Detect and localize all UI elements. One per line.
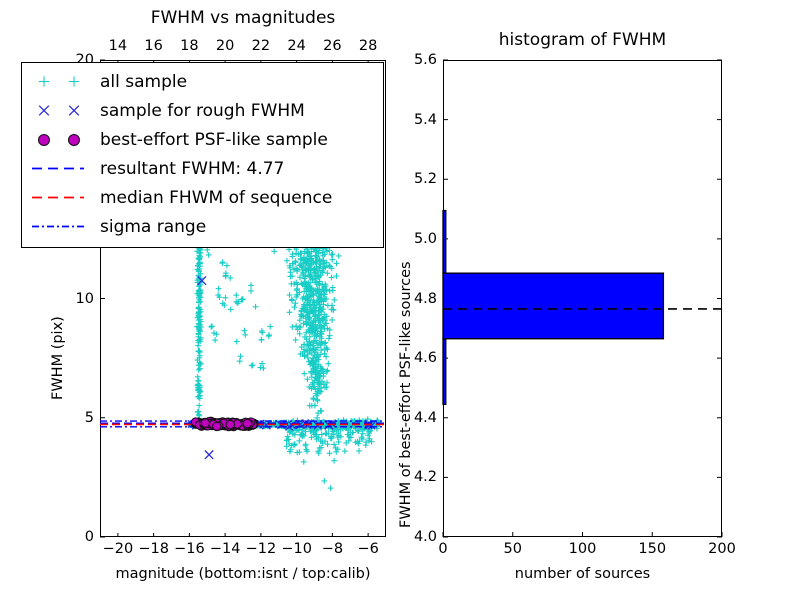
right-ytick: 5.6 xyxy=(399,52,437,68)
right-xtick: 50 xyxy=(504,541,522,557)
right-ytick: 4.4 xyxy=(399,410,437,426)
legend-marker-cross xyxy=(22,96,100,125)
legend-label: all sample xyxy=(100,72,187,92)
legend-entry: best-effort PSF-like sample xyxy=(22,125,383,154)
right-ytick: 5.4 xyxy=(399,112,437,128)
legend-label: sigma range xyxy=(100,217,206,237)
left-xtick-top: 26 xyxy=(323,38,341,54)
figure-canvas: FWHM vs magnitudes FWHM (pix) magnitude … xyxy=(0,0,800,600)
left-xtick-bottom: −14 xyxy=(210,541,241,557)
plot-legend: all samplesample for rough FWHMbest-effo… xyxy=(21,62,384,248)
right-ytick: 4.0 xyxy=(399,529,437,545)
left-xtick-top: 20 xyxy=(216,38,234,54)
legend-marker-dashdot-line xyxy=(22,212,100,241)
left-xtick-top: 18 xyxy=(180,38,198,54)
left-xtick-top: 24 xyxy=(287,38,305,54)
legend-entry: all sample xyxy=(22,67,383,96)
legend-marker-circle xyxy=(22,125,100,154)
left-ytick: 0 xyxy=(66,529,94,545)
right-ytick: 4.6 xyxy=(399,350,437,366)
left-xtick-bottom: −10 xyxy=(281,541,312,557)
right-xtick: 0 xyxy=(438,541,447,557)
left-xtick-bottom: −16 xyxy=(174,541,205,557)
right-ytick: 4.8 xyxy=(399,291,437,307)
legend-marker-plus xyxy=(22,67,100,96)
left-xtick-top: 28 xyxy=(359,38,377,54)
right-xtick: 100 xyxy=(569,541,597,557)
legend-label: resultant FWHM: 4.77 xyxy=(100,159,284,179)
left-xtick-bottom: −12 xyxy=(246,541,277,557)
legend-entry: sample for rough FWHM xyxy=(22,96,383,125)
legend-label: median FHWM of sequence xyxy=(100,188,332,208)
left-xtick-bottom: −8 xyxy=(322,541,343,557)
right-xtick: 150 xyxy=(638,541,666,557)
right-xtick: 200 xyxy=(708,541,736,557)
legend-label: best-effort PSF-like sample xyxy=(100,130,328,150)
legend-dot xyxy=(38,134,50,146)
legend-label: sample for rough FWHM xyxy=(100,101,305,121)
legend-entry: sigma range xyxy=(22,212,383,241)
legend-entry: resultant FWHM: 4.77 xyxy=(22,154,383,183)
right-ytick: 5.0 xyxy=(399,231,437,247)
right-ytick: 5.2 xyxy=(399,171,437,187)
legend-marker-dashed-line xyxy=(22,183,100,212)
left-xtick-bottom: −20 xyxy=(103,541,134,557)
legend-entry: median FHWM of sequence xyxy=(22,183,383,212)
left-ytick: 10 xyxy=(66,291,94,307)
left-xtick-top: 22 xyxy=(252,38,270,54)
histogram-bars xyxy=(443,211,663,405)
left-xtick-bottom: −6 xyxy=(357,541,378,557)
left-ytick: 5 xyxy=(66,410,94,426)
left-xtick-bottom: −18 xyxy=(138,541,169,557)
left-xtick-top: 16 xyxy=(144,38,162,54)
legend-marker-dashed-line xyxy=(22,154,100,183)
legend-dot xyxy=(68,134,80,146)
left-xtick-top: 14 xyxy=(109,38,127,54)
right-ytick: 4.2 xyxy=(399,469,437,485)
